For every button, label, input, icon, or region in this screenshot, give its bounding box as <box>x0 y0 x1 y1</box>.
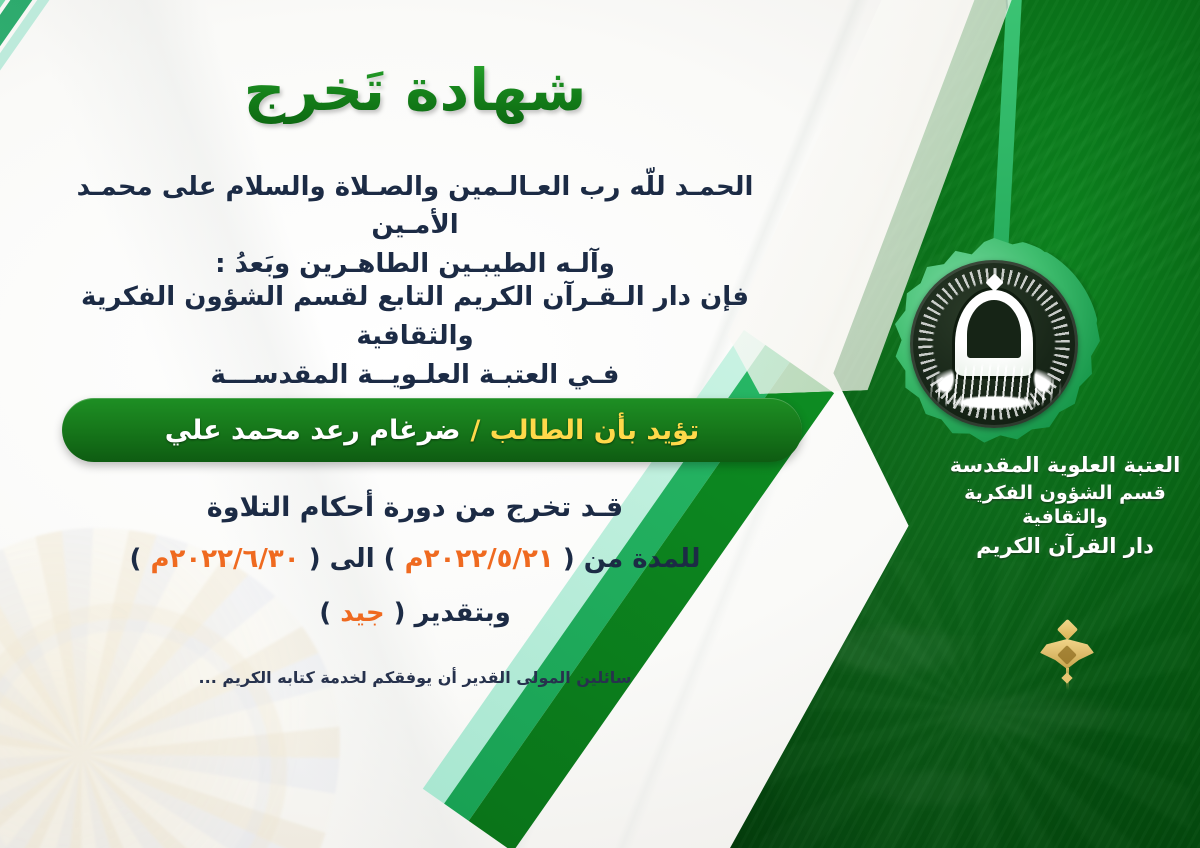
grade-prefix: وبتقدير ( <box>394 598 511 628</box>
course-line: قـد تخرج من دورة أحكام التلاوة <box>30 492 800 523</box>
panel-institution-calligraphy: العتبة العلوية المقدسة قسم الشؤون الفكري… <box>940 452 1190 559</box>
student-name-banner: تؤيد بأن الطالب / ضرغام رعد محمد علي <box>62 398 802 462</box>
calligraphy-line-3: دار القرآن الكريم <box>940 533 1190 560</box>
grade-line: وبتقدير ( جيد ) <box>30 598 800 628</box>
emblem-disc <box>910 260 1078 428</box>
duration-line: للمدة من ( ٢٠٢٢/٥/٢١م ) الى ( ٢٠٢٢/٦/٣٠م… <box>30 544 800 574</box>
duration-suffix: ) <box>130 544 142 574</box>
emblem-base-calligraphy <box>926 356 1062 410</box>
calligraphy-line-1: العتبة العلوية المقدسة <box>940 452 1190 479</box>
certificate-content: شهادة تَخرج الحمـد للّه رب العـالـمين وا… <box>0 0 830 848</box>
gold-ornament-icon <box>1036 622 1098 696</box>
duration-prefix: للمدة من ( <box>563 544 701 574</box>
grade-suffix: ) <box>319 598 331 628</box>
certificate-title: شهادة تَخرج <box>0 56 830 124</box>
grade-value: جيد <box>340 598 384 628</box>
start-date: ٢٠٢٢/٥/٢١م <box>405 544 554 574</box>
student-name: ضرغام رعد محمد علي <box>165 415 461 446</box>
calligraphy-line-2: قسم الشؤون الفكرية والثقافية <box>940 481 1190 530</box>
invocation-block: الحمـد للّه رب العـالـمين والصـلاة والسل… <box>30 168 800 283</box>
invocation-line-1: الحمـد للّه رب العـالـمين والصـلاة والسل… <box>30 168 800 245</box>
duration-middle: ) الى ( <box>309 544 396 574</box>
organization-line-2: فـي العتبـة العلـويــة المقدســـة <box>30 356 800 395</box>
organization-line-1: فإن دار الـقـرآن الكريم التابع لقسم الشؤ… <box>30 278 800 356</box>
ornament-tail-dot <box>1061 672 1072 683</box>
organization-block: فإن دار الـقـرآن الكريم التابع لقسم الشؤ… <box>30 278 800 395</box>
ornament-diamond <box>1056 619 1077 640</box>
closing-line: سائلين المولى القدير أن يوفقكم لخدمة كتا… <box>30 668 800 687</box>
seal-emblem <box>888 238 1100 450</box>
certificate-page: العتبة العلوية المقدسة قسم الشؤون الفكري… <box>0 0 1200 848</box>
end-date: ٢٠٢٢/٦/٣٠م <box>150 544 299 574</box>
banner-prefix-label: تؤيد بأن الطالب / <box>470 415 699 446</box>
